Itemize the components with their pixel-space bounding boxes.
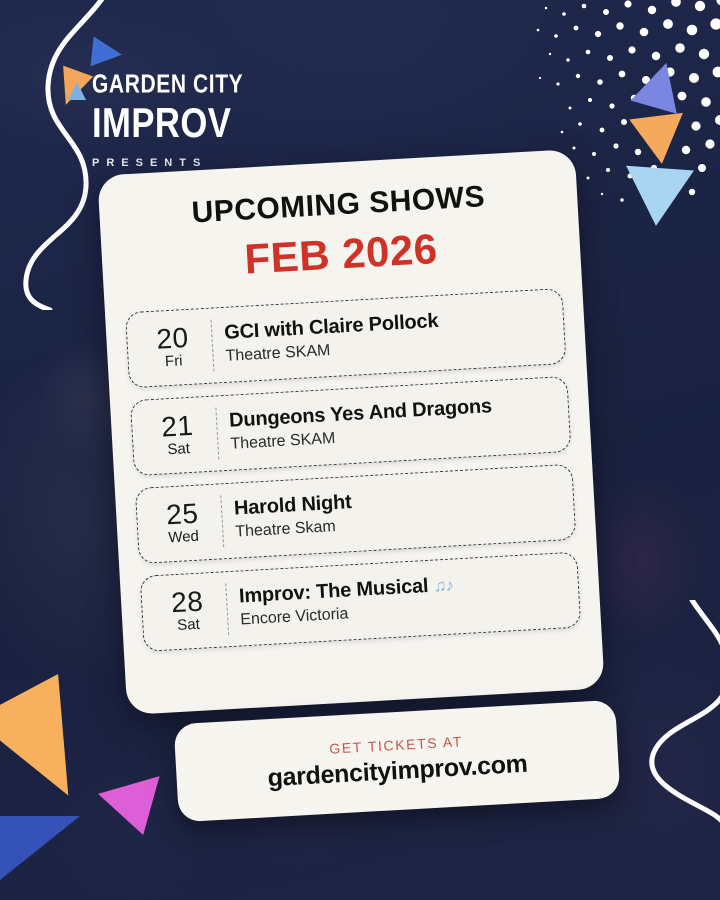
show-weekday: Wed xyxy=(152,527,215,548)
tickets-url[interactable]: gardencityimprov.com xyxy=(267,749,528,792)
show-date: 21 Sat xyxy=(146,410,218,460)
show-date: 28 Sat xyxy=(156,586,228,636)
brand-logo: GARDEN CITY IMPROV PRESENTS xyxy=(92,72,243,169)
show-info: Improv: The Musical ♫♪ Encore Victoria xyxy=(238,567,565,631)
tickets-label: GET TICKETS AT xyxy=(329,733,463,756)
blue-shape-bottom-left xyxy=(0,816,80,900)
show-row[interactable]: 20 Fri GCI with Claire Pollock Theatre S… xyxy=(125,288,567,388)
show-day: 20 xyxy=(141,323,204,355)
show-title-text: Harold Night xyxy=(233,491,352,520)
brand-presents: PRESENTS xyxy=(92,157,243,169)
show-day: 28 xyxy=(156,586,219,618)
show-date: 20 Fri xyxy=(141,322,213,372)
show-weekday: Sat xyxy=(147,439,210,460)
show-row[interactable]: 21 Sat Dungeons Yes And Dragons Theatre … xyxy=(130,376,572,476)
show-info: Harold Night Theatre Skam xyxy=(233,480,560,544)
show-row[interactable]: 25 Wed Harold Night Theatre Skam xyxy=(135,464,577,564)
show-info: Dungeons Yes And Dragons Theatre SKAM xyxy=(229,392,556,456)
upcoming-shows-card: UPCOMING SHOWS FEB 2026 20 Fri GCI with … xyxy=(97,149,604,715)
show-row[interactable]: 28 Sat Improv: The Musical ♫♪ Encore Vic… xyxy=(140,552,582,652)
show-day: 25 xyxy=(151,499,214,531)
show-weekday: Sat xyxy=(157,615,220,636)
show-weekday: Fri xyxy=(142,351,205,372)
orange-triangle-top-right xyxy=(629,113,688,167)
show-info: GCI with Claire Pollock Theatre SKAM xyxy=(224,304,551,368)
shows-list: 20 Fri GCI with Claire Pollock Theatre S… xyxy=(125,288,581,652)
show-date: 25 Wed xyxy=(151,498,223,548)
brand-line-1: GARDEN CITY xyxy=(92,72,243,98)
show-day: 21 xyxy=(146,411,209,443)
lightblue-triangle-top-left xyxy=(68,82,86,100)
lightblue-triangle-top-right xyxy=(622,166,694,229)
brand-line-2: IMPROV xyxy=(92,103,246,144)
blue-triangle-top-left xyxy=(91,37,124,70)
poster-canvas: GARDEN CITY IMPROV PRESENTS UPCOMING SHO… xyxy=(0,0,720,900)
music-note-icon: ♫♪ xyxy=(433,576,453,596)
